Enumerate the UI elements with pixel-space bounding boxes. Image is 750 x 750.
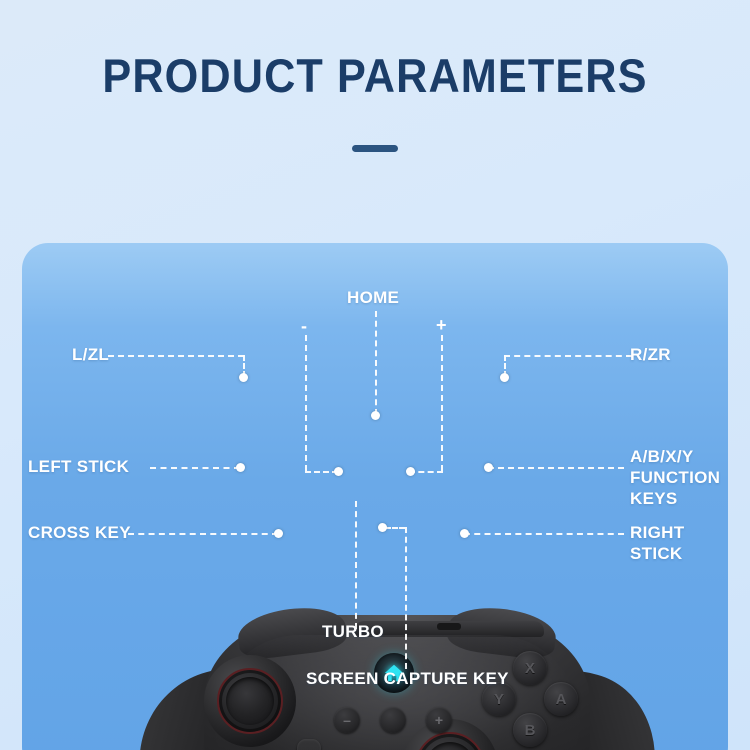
page-title: PRODUCT PARAMETERS [30, 48, 720, 103]
directional-pad [272, 739, 346, 750]
leader-function-keys [488, 467, 624, 469]
right-stick-accent-ring [415, 732, 485, 750]
left-analog-stick [204, 655, 296, 747]
label-function-keys: A/B/X/Y FUNCTION KEYS [630, 446, 720, 509]
label-turbo: TURBO [322, 621, 384, 642]
title-divider [352, 145, 398, 152]
leader-home [375, 311, 377, 415]
leader-lzl-horizontal [108, 355, 244, 357]
leader-plus-vertical [441, 335, 443, 471]
leader-dot-minus [334, 467, 343, 476]
leader-right-stick [464, 533, 624, 535]
leader-capture-vertical [405, 527, 407, 669]
dpad-vertical-bar [297, 739, 321, 750]
leader-cross-key [128, 533, 278, 535]
leader-turbo [355, 501, 357, 629]
leader-dot-plus [406, 467, 415, 476]
leader-dot-right-stick [460, 529, 469, 538]
button-a: A [544, 682, 578, 716]
label-screen-capture-key: SCREEN CAPTURE KEY [306, 668, 509, 689]
left-stick-cap [226, 677, 274, 725]
label-left-stick: LEFT STICK [28, 456, 129, 477]
product-parameters-page: PRODUCT PARAMETERS [0, 0, 750, 750]
leader-dot-home [371, 411, 380, 420]
leader-capture-horizontal [385, 527, 405, 529]
diagram-panel: X Y A B – + [22, 243, 728, 750]
leader-minus-vertical [305, 335, 307, 471]
plus-button: + [426, 707, 452, 733]
leader-rzr-horizontal [504, 355, 632, 357]
label-home: HOME [347, 287, 399, 308]
button-x: X [513, 651, 547, 685]
minus-button: – [334, 707, 360, 733]
button-b: B [513, 713, 547, 747]
label-cross-key: CROSS KEY [28, 522, 131, 543]
capture-button [380, 707, 406, 733]
label-plus: + [436, 315, 447, 336]
label-right-stick: RIGHT STICK [630, 522, 684, 564]
leader-dot-capture [378, 523, 387, 532]
label-minus: - [301, 316, 307, 337]
leader-dot-left-stick [236, 463, 245, 472]
usb-port-icon [437, 623, 461, 630]
leader-dot-cross-key [274, 529, 283, 538]
abxy-button-cluster: X Y A B [482, 651, 578, 747]
leader-dot-function-keys [484, 463, 493, 472]
label-r-zr: R/ZR [630, 344, 671, 365]
leader-dot-rzr [500, 373, 509, 382]
leader-left-stick [150, 467, 240, 469]
left-stick-accent-ring [217, 668, 283, 734]
label-l-zl: L/ZL [72, 344, 109, 365]
right-stick-cap [425, 742, 475, 750]
leader-dot-lzl [239, 373, 248, 382]
